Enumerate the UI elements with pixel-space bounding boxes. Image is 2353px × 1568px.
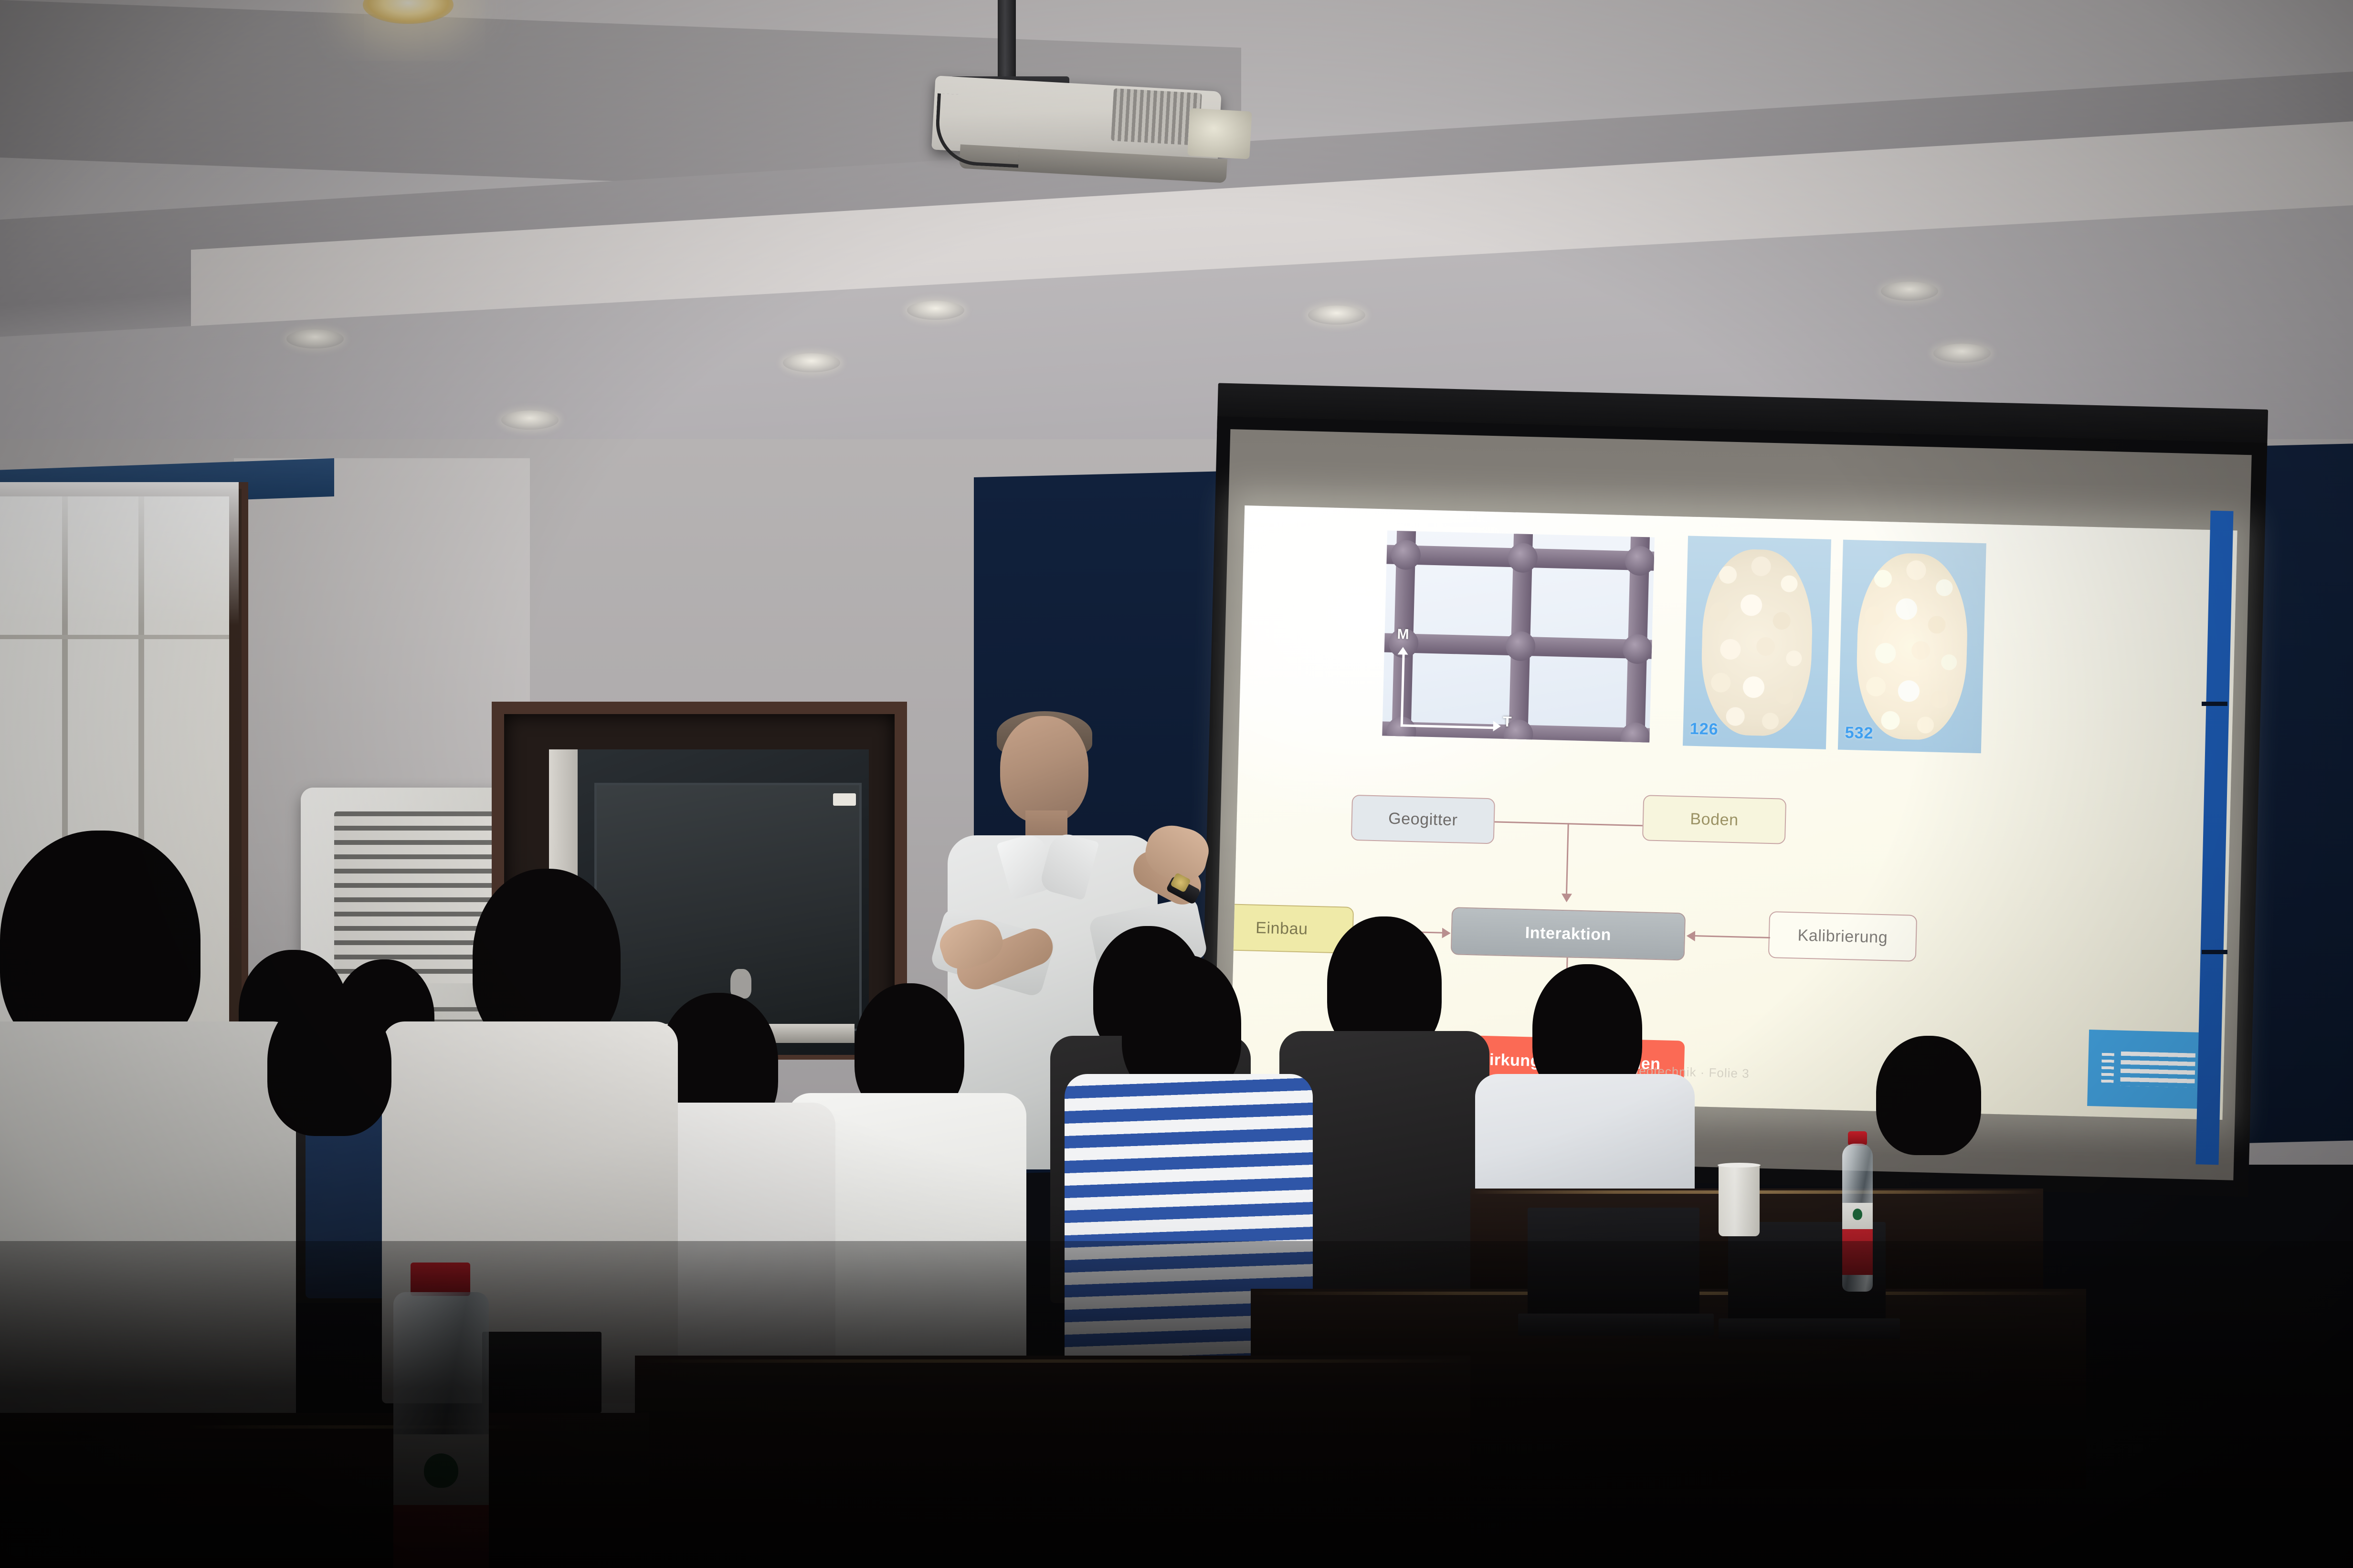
water-bottle-desk — [1840, 1131, 1874, 1294]
aggregate-photo-1: 126 — [1683, 536, 1831, 749]
projector-mount-arm — [998, 0, 1016, 88]
laptop-base — [1719, 1318, 1900, 1339]
logo-lines-icon — [2120, 1052, 2195, 1088]
desk-edge-highlight — [635, 1359, 1470, 1363]
audience-body — [0, 1021, 296, 1451]
blue-strip-joint — [2202, 702, 2227, 706]
aggregate-pile — [1700, 548, 1815, 737]
window-sticker — [833, 793, 856, 806]
window-transom — [0, 635, 229, 639]
bottle-cap-icon — [411, 1263, 470, 1296]
audience-head — [267, 993, 391, 1136]
window-glare — [0, 482, 239, 625]
bottle-leaf-icon — [424, 1453, 458, 1488]
flow-edge-down-to-interaktion — [1566, 823, 1569, 894]
aggregate-caption-2: 532 — [1845, 724, 1874, 743]
bottle-label-band — [393, 1505, 489, 1568]
desk-row-front — [635, 1356, 1470, 1568]
flow-arrow-down-icon — [1562, 894, 1572, 903]
paper-cup — [1719, 1165, 1760, 1236]
aggregate-photo-2: 532 — [1838, 540, 1986, 753]
flow-edge-kalibrierung-interaktion — [1695, 935, 1770, 938]
geogrid-photo: M T — [1382, 531, 1655, 743]
bench-row-left — [0, 1442, 411, 1568]
downlight-icon — [1308, 305, 1365, 325]
flow-arrow-left-icon — [1687, 931, 1696, 941]
audience-head — [1876, 1036, 1981, 1155]
flow-node-boden: Boden — [1642, 795, 1786, 844]
flow-node-interaktion: Interaktion — [1451, 907, 1686, 960]
paper-cup-rim — [1718, 1163, 1761, 1168]
laptop-screen — [1528, 1208, 1699, 1317]
ac-grille-icon — [334, 811, 496, 983]
projector-lens-icon — [1187, 108, 1252, 159]
aggregate-pile — [1855, 552, 1969, 741]
flow-node-einbau: Einbau — [1230, 903, 1354, 954]
institute-logo — [2087, 1030, 2208, 1109]
blue-strip-joint — [2202, 950, 2227, 954]
lecture-hall-photo: M T 126 532 Geogitter Boden Einbau Inte — [0, 0, 2353, 1568]
downlight-icon — [907, 301, 964, 320]
laptop-base — [1518, 1314, 1714, 1336]
bottle-leaf-icon — [1853, 1209, 1862, 1220]
downlight-icon — [501, 410, 559, 430]
flow-node-kalibrierung: Kalibrierung — [1768, 911, 1917, 962]
downlight-icon — [1933, 344, 1991, 363]
logo-mark-icon — [2101, 1053, 2114, 1084]
presenter-head — [1000, 716, 1088, 823]
bottle-label-band — [1842, 1229, 1873, 1275]
water-bottle-front — [382, 1263, 501, 1568]
aggregate-caption-1: 126 — [1689, 720, 1719, 739]
flow-node-geogitter: Geogitter — [1351, 795, 1495, 844]
geogrid-axis-md-label: M — [1397, 626, 1409, 643]
geogrid-axis-td-label: T — [1503, 714, 1512, 730]
downlight-icon — [286, 329, 344, 348]
downlight-icon — [1881, 282, 1938, 301]
flow-arrow-right-icon — [1442, 928, 1451, 938]
downlight-icon — [783, 353, 840, 372]
